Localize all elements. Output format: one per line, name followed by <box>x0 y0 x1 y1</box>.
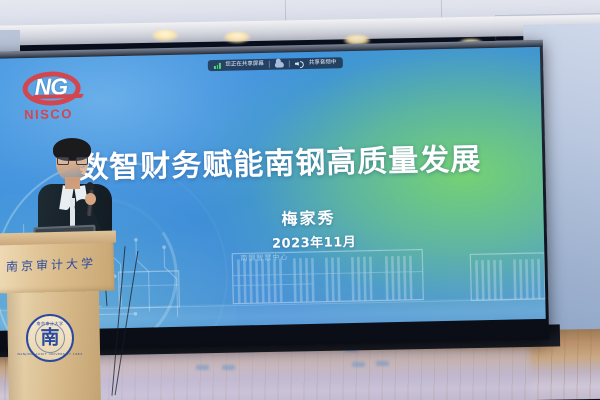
glasses-bridge <box>69 160 76 161</box>
downlight <box>152 30 178 41</box>
floor-light-spot <box>222 365 235 370</box>
screen-share-status-bar: 您正在共享屏幕 共享音频中 <box>208 57 343 71</box>
speaker-icon <box>295 60 304 67</box>
floor-light-spot <box>196 365 209 370</box>
logo-slash-icon <box>32 94 84 99</box>
slide-title: 数智财务赋能南钢高质量发展 <box>78 134 482 187</box>
lectern-shading <box>7 290 25 400</box>
lectern-front-panel: 南京审计大学 <box>0 239 115 294</box>
divider <box>269 61 270 68</box>
sharing-audio-label: 共享音频中 <box>309 60 337 66</box>
floor-reflection <box>60 348 530 400</box>
presentation-photo: NG NISCO 您正在共享屏幕 共享音频中 数智财务赋能南钢高质量发展 梅家秀… <box>0 0 600 400</box>
emblem-bottom-text: NANJING AUDIT UNIVERSITY 1983 <box>18 352 83 356</box>
building-label: 南钢智慧中心 <box>240 252 288 263</box>
glasses-lens <box>57 157 69 165</box>
divider <box>289 60 290 67</box>
downlight <box>224 32 250 43</box>
cloud-icon <box>275 61 284 67</box>
lectern: 南京审计大学 南京审计大学 南 NANJING AUDIT UNIVERSITY… <box>0 232 116 400</box>
logo-wordmark: NISCO <box>24 106 73 122</box>
floor-light-spot <box>376 361 389 366</box>
slide-presenter-name: 梅家秀 <box>281 204 336 229</box>
glasses-lens <box>76 157 88 165</box>
sharing-screen-label: 您正在共享屏幕 <box>225 62 264 68</box>
floor-light-spot <box>352 362 365 367</box>
speaker-hand <box>85 193 96 205</box>
university-emblem: 南京审计大学 南 NANJING AUDIT UNIVERSITY 1983 <box>26 314 74 362</box>
nisco-logo: NG NISCO <box>18 70 105 126</box>
signal-bars-icon <box>214 62 221 68</box>
emblem-character: 南 <box>40 329 59 348</box>
lectern-university-name: 南京审计大学 <box>6 254 96 275</box>
speaker-glasses <box>57 157 88 165</box>
